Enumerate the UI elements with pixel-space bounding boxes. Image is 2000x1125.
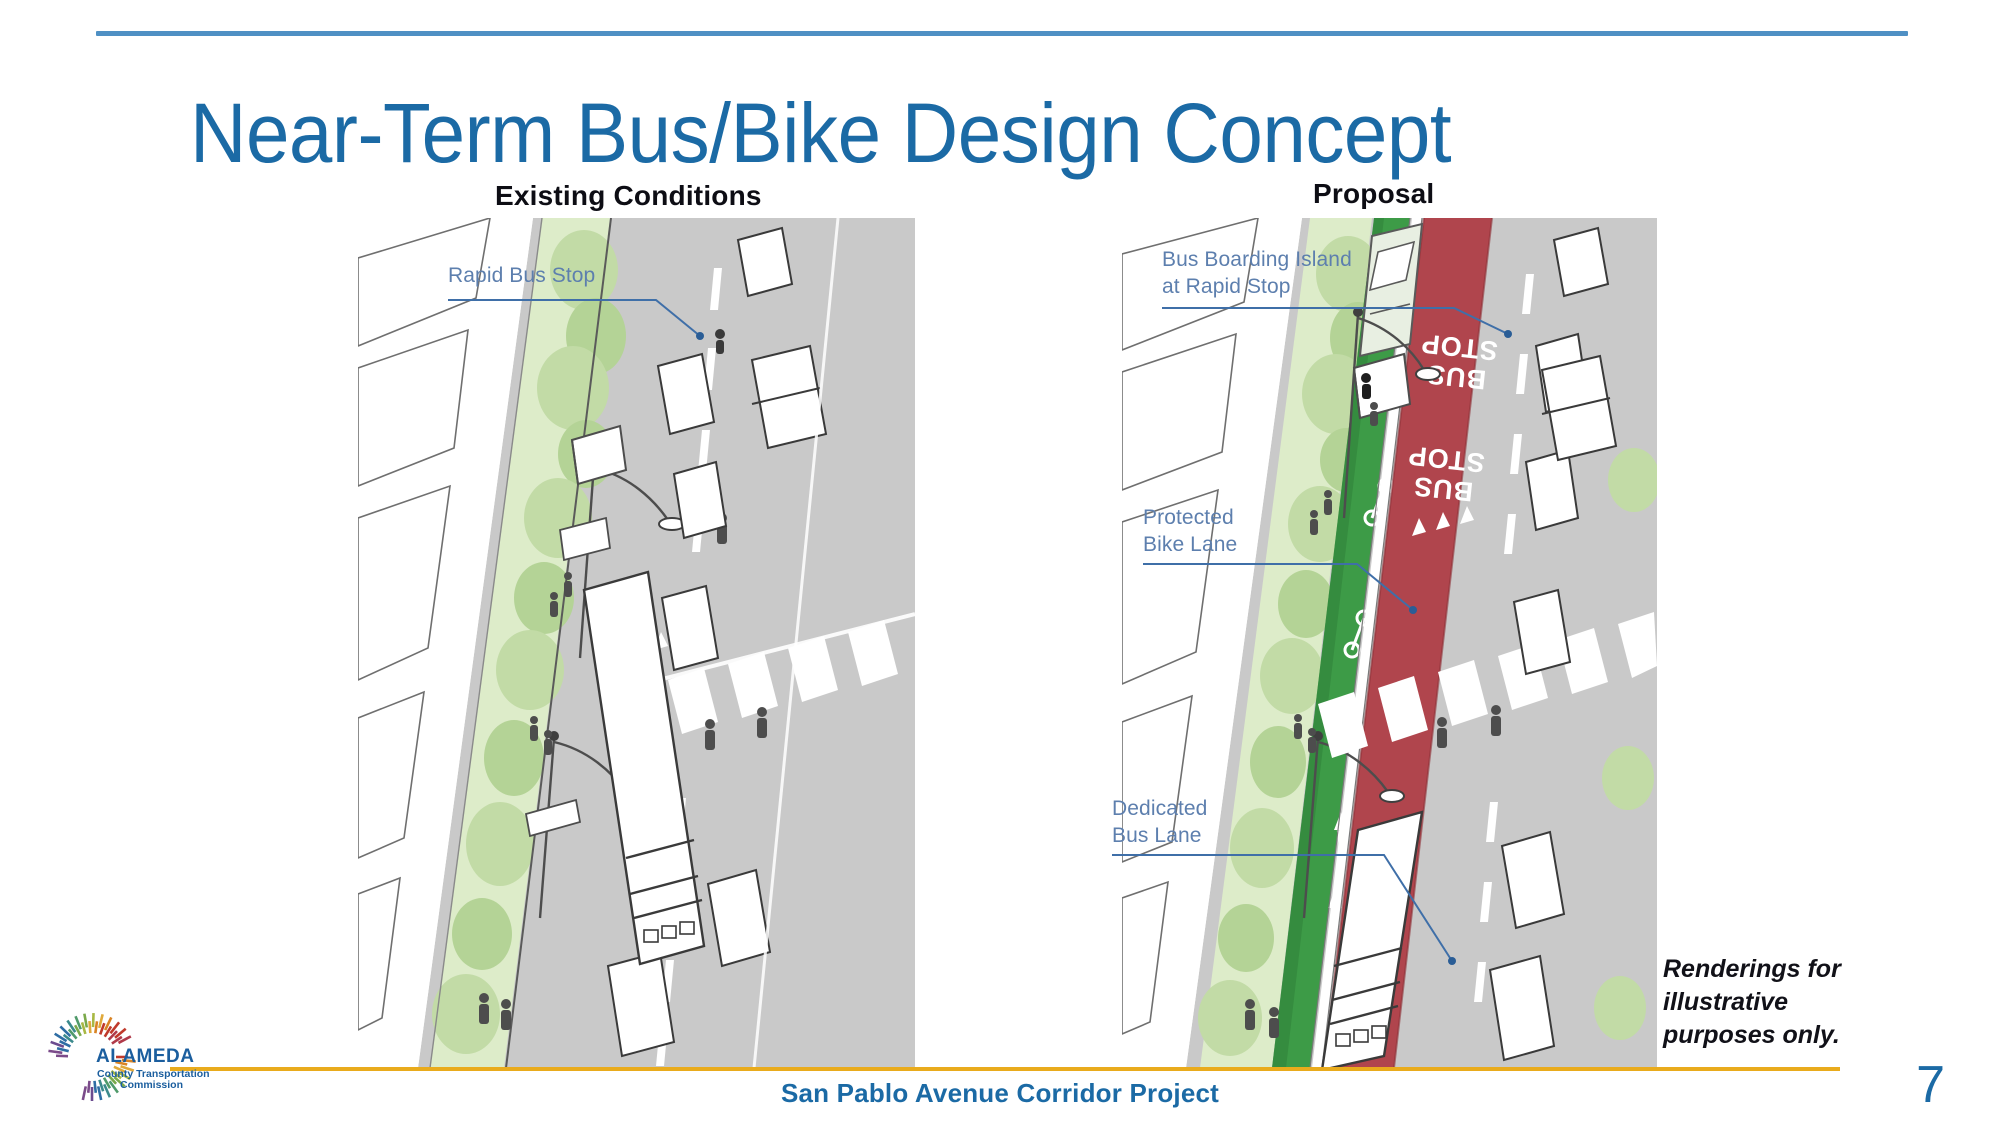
logo-tertiary-text: Commission xyxy=(120,1079,183,1091)
disclaimer-text: Renderings for illustrative purposes onl… xyxy=(1663,953,1878,1052)
callout-bus-boarding-island-label: Bus Boarding Island at Rapid Stop xyxy=(1162,246,1352,300)
page-number: 7 xyxy=(1916,1055,1945,1115)
proposal-illustration: BUS STOP BUS STOP xyxy=(1122,218,1657,1068)
slide: Near-Term Bus/Bike Design Concept Existi… xyxy=(0,0,2000,1125)
page-title: Near-Term Bus/Bike Design Concept xyxy=(190,88,1734,178)
callout-protected-bike-lane-label: Protected Bike Lane xyxy=(1143,504,1237,558)
callout-protected-bike-lane-underline xyxy=(1143,563,1308,565)
callout-bus-boarding-island-underline xyxy=(1162,307,1392,309)
callout-rapid-bus-stop-label: Rapid Bus Stop xyxy=(448,262,595,289)
existing-conditions-illustration xyxy=(358,218,915,1068)
rendering-proposal: BUS STOP BUS STOP xyxy=(1122,218,1657,1068)
panel-heading-existing: Existing Conditions xyxy=(495,180,762,212)
callout-rapid-bus-stop-underline xyxy=(448,299,603,301)
rendering-existing-conditions xyxy=(358,218,915,1068)
panel-heading-proposal: Proposal xyxy=(1313,178,1434,210)
logo-mark: ALAMEDA County Transportation Commission xyxy=(40,1000,210,1115)
callout-dedicated-bus-lane-underline xyxy=(1112,854,1277,856)
logo-primary-text: ALAMEDA xyxy=(96,1046,195,1067)
footer-project-title: San Pablo Avenue Corridor Project xyxy=(0,1078,2000,1109)
top-decorative-rule xyxy=(96,31,1908,36)
alameda-cTc-logo: ALAMEDA County Transportation Commission xyxy=(40,1000,210,1115)
callout-dedicated-bus-lane-label: Dedicated Bus Lane xyxy=(1112,795,1207,849)
footer-divider-rule xyxy=(170,1067,1840,1071)
